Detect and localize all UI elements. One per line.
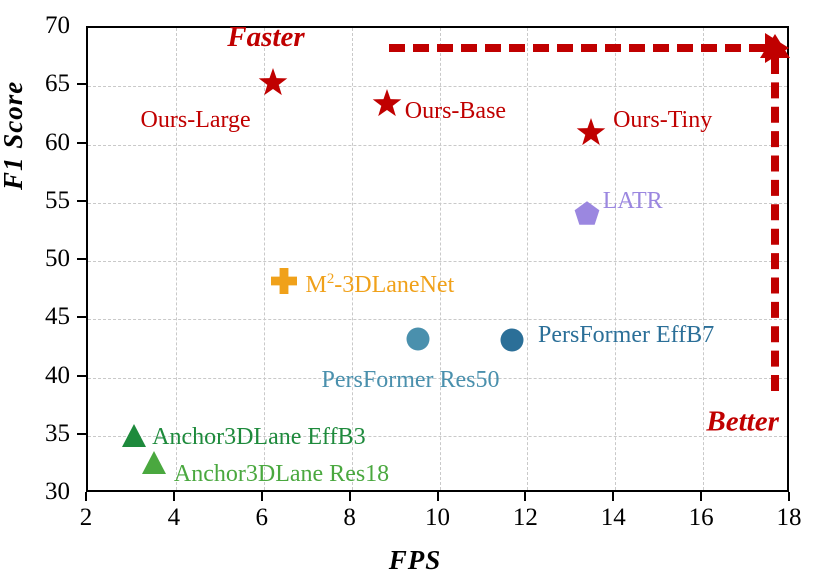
data-point-ours-tiny[interactable] [576, 118, 606, 148]
gridline-horizontal [88, 319, 787, 320]
point-label-ours-tiny: Ours-Tiny [613, 107, 712, 134]
x-tick-mark [700, 492, 702, 501]
y-axis-title: F1 Score [0, 81, 29, 190]
gridline-vertical [703, 28, 704, 490]
plot-area: Ours-LargeOurs-BaseOurs-TinyLATRM2-3DLan… [86, 26, 789, 492]
gridline-vertical [615, 28, 616, 490]
x-axis-title: FPS [0, 545, 830, 576]
x-tick-mark [612, 492, 614, 501]
gridline-vertical [527, 28, 528, 490]
x-tick-label: 12 [513, 504, 538, 532]
data-point-anchor3dlane-effb3[interactable] [121, 423, 147, 449]
point-label-anchor3dlane-res18: Anchor3DLane Res18 [174, 461, 389, 488]
gridline-horizontal [88, 261, 787, 262]
data-point-ours-large[interactable] [258, 68, 288, 98]
y-tick-mark [77, 200, 86, 202]
y-tick-mark [77, 375, 86, 377]
faster-arrow-line [389, 44, 765, 52]
gridline-horizontal [88, 203, 787, 204]
y-tick-label: 70 [2, 12, 70, 40]
y-tick-label: 55 [2, 187, 70, 215]
better-annotation-text: Better [706, 405, 779, 438]
x-tick-mark [437, 492, 439, 501]
x-tick-label: 14 [601, 504, 626, 532]
y-tick-mark [77, 83, 86, 85]
data-point-m2-3dlanenet[interactable] [271, 268, 297, 294]
x-tick-mark [524, 492, 526, 501]
faster-annotation-text: Faster [227, 21, 304, 54]
x-tick-label: 4 [168, 504, 181, 532]
x-tick-mark [788, 492, 790, 501]
gridline-vertical [176, 28, 177, 490]
point-label-persformer-res50: PersFormer Res50 [322, 367, 500, 394]
chart-figure: Ours-LargeOurs-BaseOurs-TinyLATRM2-3DLan… [0, 0, 830, 580]
point-label-m2-3dlanenet: M2-3DLaneNet [306, 271, 455, 299]
y-tick-mark [77, 316, 86, 318]
y-tick-mark [77, 258, 86, 260]
gridline-horizontal [88, 145, 787, 146]
y-tick-mark [77, 433, 86, 435]
point-label-ours-base: Ours-Base [405, 98, 506, 125]
x-tick-label: 10 [425, 504, 450, 532]
gridline-vertical [352, 28, 353, 490]
x-tick-label: 2 [80, 504, 93, 532]
better-arrow-line [771, 58, 779, 391]
y-tick-label: 45 [2, 303, 70, 331]
data-point-ours-base[interactable] [372, 89, 402, 119]
x-tick-label: 16 [689, 504, 714, 532]
y-tick-label: 30 [2, 478, 70, 506]
x-tick-label: 18 [777, 504, 802, 532]
point-label-anchor3dlane-effb3: Anchor3DLane EffB3 [152, 424, 366, 451]
x-tick-mark [173, 492, 175, 501]
data-point-anchor3dlane-res18[interactable] [141, 450, 167, 476]
x-tick-label: 8 [343, 504, 356, 532]
better-arrow-head-icon [760, 34, 790, 58]
gridline-horizontal [88, 86, 787, 87]
point-label-persformer-effb7: PersFormer EffB7 [538, 322, 714, 349]
x-tick-label: 6 [256, 504, 269, 532]
y-tick-label: 50 [2, 245, 70, 273]
x-tick-mark [85, 492, 87, 501]
point-label-latr: LATR [603, 188, 663, 215]
data-point-persformer-res50[interactable] [406, 328, 429, 351]
data-point-latr[interactable] [574, 201, 600, 227]
point-label-ours-large: Ours-Large [141, 107, 251, 134]
x-tick-mark [349, 492, 351, 501]
y-tick-label: 40 [2, 362, 70, 390]
y-tick-label: 35 [2, 420, 70, 448]
data-point-persformer-effb7[interactable] [500, 329, 523, 352]
y-tick-mark [77, 142, 86, 144]
x-tick-mark [261, 492, 263, 501]
